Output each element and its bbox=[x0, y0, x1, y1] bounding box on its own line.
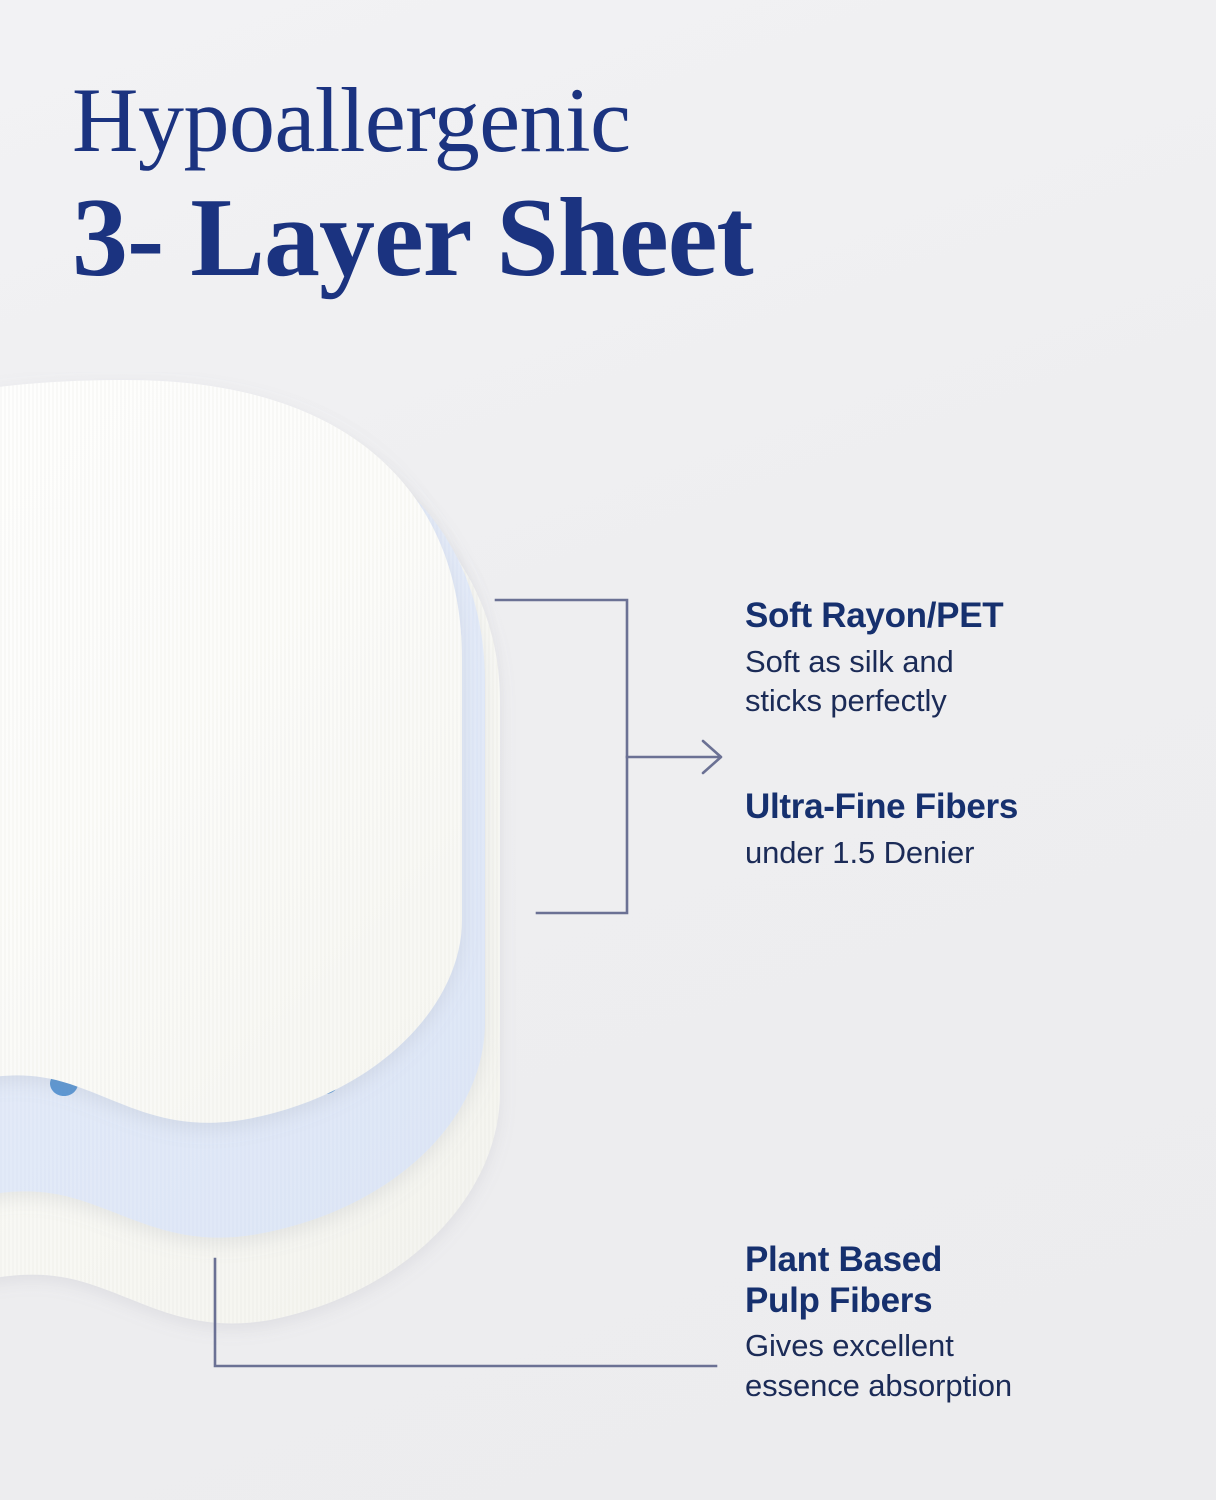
callout-subtext: Gives excellent essence absorption bbox=[745, 1326, 1175, 1405]
page-title: Hypoallergenic 3- Layer Sheet bbox=[72, 74, 1162, 298]
callout-subtext-line: Gives excellent bbox=[745, 1326, 1175, 1366]
title-line-three-layer-sheet: 3- Layer Sheet bbox=[72, 180, 1162, 298]
infographic-canvas: Hypoallergenic 3- Layer Sheet bbox=[0, 0, 1216, 1500]
callout-heading: Soft Rayon/PET bbox=[745, 596, 1165, 637]
title-line-hypoallergenic: Hypoallergenic bbox=[72, 74, 1162, 166]
callout-heading-line: Plant Based bbox=[745, 1240, 1175, 1281]
callout-subtext-line: under 1.5 Denier bbox=[745, 833, 1165, 873]
callout-subtext-line: Soft as silk and bbox=[745, 642, 1165, 682]
callout-soft-rayon-pet: Soft Rayon/PET Soft as silk and sticks p… bbox=[745, 596, 1165, 721]
callout-subtext-line: essence absorption bbox=[745, 1366, 1175, 1406]
callout-arrow-head-icon bbox=[703, 741, 721, 773]
callout-subtext-line: sticks perfectly bbox=[745, 681, 1165, 721]
sheet-layers-illustration bbox=[0, 372, 620, 1362]
callout-plant-based-pulp-fibers: Plant Based Pulp Fibers Gives excellent … bbox=[745, 1240, 1175, 1406]
callout-subtext: Soft as silk and sticks perfectly bbox=[745, 642, 1165, 721]
callout-ultra-fine-fibers: Ultra-Fine Fibers under 1.5 Denier bbox=[745, 787, 1165, 872]
callout-heading: Ultra-Fine Fibers bbox=[745, 787, 1165, 828]
callout-subtext: under 1.5 Denier bbox=[745, 833, 1165, 873]
layer-top-rayon-pet bbox=[0, 380, 462, 1123]
callout-heading: Plant Based Pulp Fibers bbox=[745, 1240, 1175, 1321]
callout-heading-line: Pulp Fibers bbox=[745, 1281, 1175, 1322]
